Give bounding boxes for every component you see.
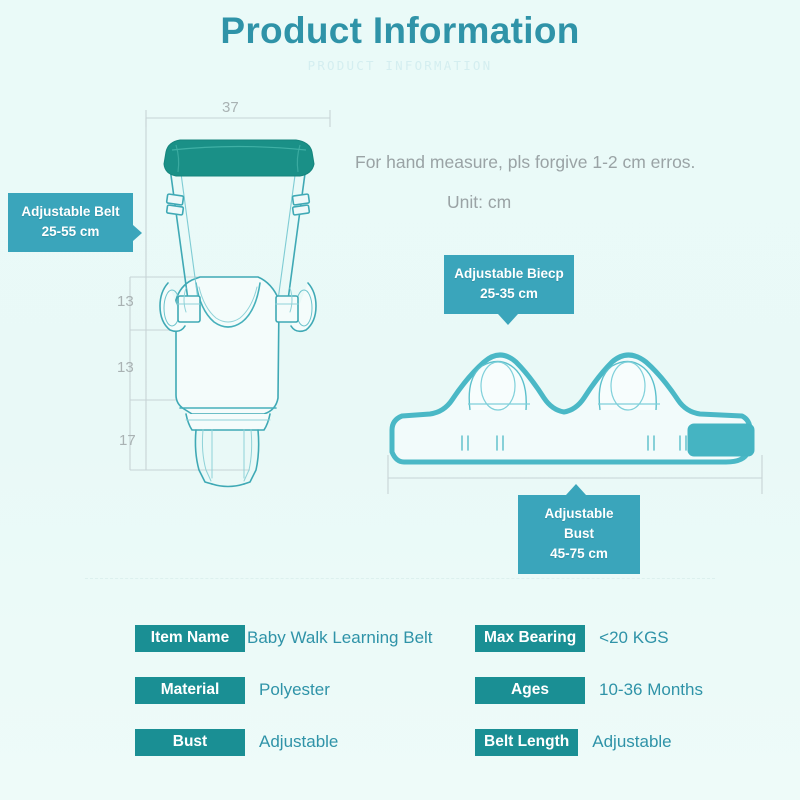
spec-label-ages: Ages xyxy=(475,677,585,704)
specification-table: Item Name Baby Walk Learning Belt Max Be… xyxy=(135,612,695,768)
unit-note: Unit: cm xyxy=(447,192,511,213)
dimension-segment-2: 13 xyxy=(117,359,134,376)
bust-belt-drawing xyxy=(392,355,750,462)
left-dimension-guides xyxy=(130,110,330,470)
spec-label-belt-length: Belt Length xyxy=(475,729,578,756)
spec-label-material: Material xyxy=(135,677,245,704)
callout-adjustable-bicep: Adjustable Biecp 25-35 cm xyxy=(444,255,574,314)
dimension-width-37: 37 xyxy=(222,99,239,116)
product-information-page: Product Information PRODUCT INFORMATION xyxy=(0,0,800,800)
spec-cell-bust: Bust Adjustable xyxy=(135,729,475,756)
spec-cell-max-bearing: Max Bearing <20 KGS xyxy=(475,625,695,652)
callout-pointer-icon xyxy=(498,314,518,325)
page-title: Product Information xyxy=(0,8,800,54)
page-header: Product Information PRODUCT INFORMATION xyxy=(0,8,800,73)
spec-cell-material: Material Polyester xyxy=(135,677,475,704)
callout-belt-value: 25-55 cm xyxy=(18,222,123,242)
measure-note: For hand measure, pls forgive 1-2 cm err… xyxy=(355,152,695,173)
belt-velcro-patch xyxy=(688,424,754,456)
dimension-segment-3: 17 xyxy=(119,432,136,449)
table-row: Bust Adjustable Belt Length Adjustable xyxy=(135,716,695,768)
harness-handle xyxy=(164,140,314,176)
table-row: Material Polyester Ages 10-36 Months xyxy=(135,664,695,716)
dimension-segment-1: 13 xyxy=(117,293,134,310)
harness-drawing xyxy=(160,166,316,487)
spec-value-item-name: Baby Walk Learning Belt xyxy=(247,628,433,648)
callout-pointer-icon xyxy=(133,225,142,241)
belt-stitch-marks xyxy=(462,436,686,450)
spec-value-material: Polyester xyxy=(259,680,330,700)
spec-label-item-name: Item Name xyxy=(135,625,245,652)
belt-arm-loops xyxy=(468,361,660,410)
callout-bust-label: Adjustable Bust xyxy=(528,504,630,544)
callout-adjustable-bust: Adjustable Bust 45-75 cm xyxy=(518,495,640,574)
spec-cell-item-name: Item Name Baby Walk Learning Belt xyxy=(135,625,475,652)
spec-value-bust: Adjustable xyxy=(259,732,338,752)
spec-cell-ages: Ages 10-36 Months xyxy=(475,677,695,704)
spec-label-bust: Bust xyxy=(135,729,245,756)
callout-bust-value: 45-75 cm xyxy=(528,544,630,564)
spec-value-max-bearing: <20 KGS xyxy=(599,628,668,648)
callout-belt-label: Adjustable Belt xyxy=(18,202,123,222)
callout-bicep-value: 25-35 cm xyxy=(454,284,564,304)
table-row: Item Name Baby Walk Learning Belt Max Be… xyxy=(135,612,695,664)
page-subtitle: PRODUCT INFORMATION xyxy=(0,58,800,73)
callout-pointer-icon xyxy=(566,484,586,495)
callout-bicep-label: Adjustable Biecp xyxy=(454,264,564,284)
section-divider xyxy=(85,578,715,579)
spec-value-belt-length: Adjustable xyxy=(592,732,671,752)
spec-cell-belt-length: Belt Length Adjustable xyxy=(475,729,695,756)
callout-adjustable-belt: Adjustable Belt 25-55 cm xyxy=(8,193,133,252)
spec-label-max-bearing: Max Bearing xyxy=(475,625,585,652)
spec-value-ages: 10-36 Months xyxy=(599,680,703,700)
